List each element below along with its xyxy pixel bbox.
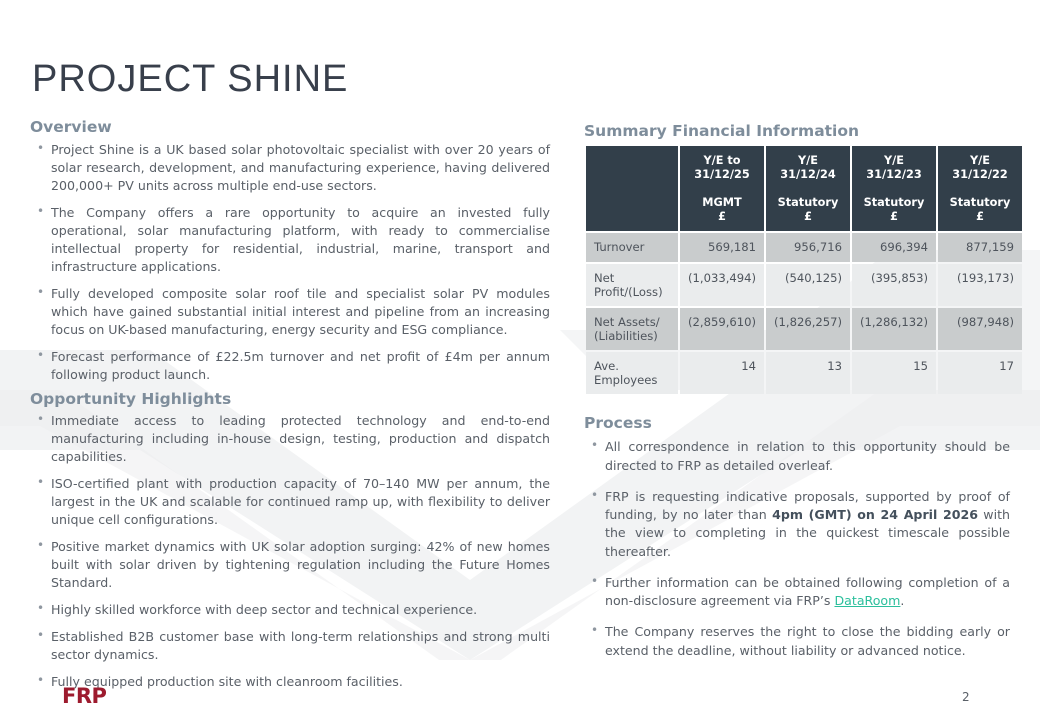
- table-header-corner: [586, 146, 678, 231]
- row-value: (1,286,132): [852, 308, 936, 350]
- deadline-emphasis: 4pm (GMT) on 24 April 2026: [772, 507, 978, 522]
- list-item: Positive market dynamics with UK solar a…: [30, 538, 550, 592]
- row-value: 13: [766, 352, 850, 394]
- row-label: Ave. Employees: [586, 352, 678, 394]
- list-item: Established B2B customer base with long-…: [30, 628, 550, 664]
- list-item: The Company offers a rare opportunity to…: [30, 204, 550, 276]
- list-item: Forecast performance of £22.5m turnover …: [30, 348, 550, 384]
- summary-financials-heading: Summary Financial Information: [584, 122, 1010, 140]
- row-value: (987,948): [938, 308, 1022, 350]
- slide-canvas: PROJECT SHINE Overview Project Shine is …: [0, 0, 1040, 720]
- row-label: Net Profit/(Loss): [586, 264, 678, 306]
- bullet-text-pre: Further information can be obtained foll…: [605, 575, 1010, 608]
- row-value: (395,853): [852, 264, 936, 306]
- bullet-text-pre: The Company reserves the right to close …: [605, 624, 1010, 657]
- summary-financials-table: Y/E to 31/12/25 MGMT £ Y/E 31/12/24 Stat…: [584, 144, 1024, 396]
- row-value: 877,159: [938, 233, 1022, 261]
- process-heading: Process: [584, 414, 1010, 432]
- row-value: 14: [680, 352, 764, 394]
- row-value: (1,826,257): [766, 308, 850, 350]
- row-value: (540,125): [766, 264, 850, 306]
- bullet-text-pre: All correspondence in relation to this o…: [605, 439, 1010, 472]
- row-value: (193,173): [938, 264, 1022, 306]
- list-item: All correspondence in relation to this o…: [584, 438, 1010, 475]
- bullet-text-tail: .: [900, 593, 904, 608]
- row-label: Net Assets/ (Liabilities): [586, 308, 678, 350]
- row-value: (2,859,610): [680, 308, 764, 350]
- table-row: Turnover 569,181 956,716 696,394 877,159: [586, 233, 1022, 261]
- table-header-col-4: Y/E 31/12/22 Statutory £: [938, 146, 1022, 231]
- table-row: Ave. Employees 14 13 15 17: [586, 352, 1022, 394]
- table-row: Net Assets/ (Liabilities) (2,859,610) (1…: [586, 308, 1022, 350]
- row-label: Turnover: [586, 233, 678, 261]
- page-number: 2: [962, 690, 970, 704]
- table-header-row: Y/E to 31/12/25 MGMT £ Y/E 31/12/24 Stat…: [586, 146, 1022, 231]
- dataroom-link[interactable]: DataRoom: [834, 593, 900, 608]
- list-item: Further information can be obtained foll…: [584, 574, 1010, 611]
- opportunity-highlights-heading: Opportunity Highlights: [30, 390, 550, 408]
- table-header-col-2: Y/E 31/12/24 Statutory £: [766, 146, 850, 231]
- list-item: ISO-certified plant with production capa…: [30, 475, 550, 529]
- list-item: FRP is requesting indicative proposals, …: [584, 488, 1010, 561]
- right-column: Summary Financial Information Y/E to 31/…: [584, 122, 1010, 660]
- row-value: 696,394: [852, 233, 936, 261]
- process-bullet-list: All correspondence in relation to this o…: [584, 438, 1010, 660]
- left-column: Overview Project Shine is a UK based sol…: [30, 118, 550, 691]
- overview-heading: Overview: [30, 118, 550, 136]
- row-value: 569,181: [680, 233, 764, 261]
- row-value: (1,033,494): [680, 264, 764, 306]
- table-header-col-1: Y/E to 31/12/25 MGMT £: [680, 146, 764, 231]
- frp-logo: FRP: [62, 684, 106, 708]
- row-value: 15: [852, 352, 936, 394]
- list-item: Fully developed composite solar roof til…: [30, 285, 550, 339]
- list-item: Project Shine is a UK based solar photov…: [30, 141, 550, 195]
- table-row: Net Profit/(Loss) (1,033,494) (540,125) …: [586, 264, 1022, 306]
- row-value: 17: [938, 352, 1022, 394]
- page-title: PROJECT SHINE: [32, 58, 348, 101]
- list-item: Immediate access to leading protected te…: [30, 412, 550, 466]
- row-value: 956,716: [766, 233, 850, 261]
- opportunity-bullet-list: Immediate access to leading protected te…: [30, 412, 550, 691]
- table-header-col-3: Y/E 31/12/23 Statutory £: [852, 146, 936, 231]
- list-item: Highly skilled workforce with deep secto…: [30, 601, 550, 619]
- list-item: Fully equipped production site with clea…: [30, 673, 550, 691]
- overview-bullet-list: Project Shine is a UK based solar photov…: [30, 141, 550, 384]
- list-item: The Company reserves the right to close …: [584, 623, 1010, 660]
